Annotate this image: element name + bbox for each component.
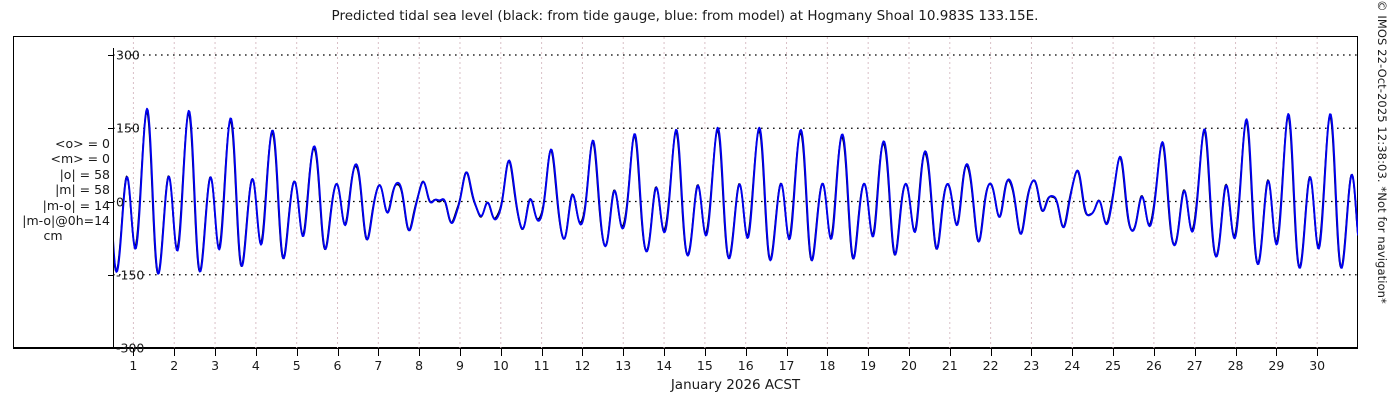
y-axis-tick xyxy=(108,55,113,56)
x-axis-tick-label: 15 xyxy=(697,358,713,373)
stat-abs-model: |m| = 58 xyxy=(14,182,110,197)
y-axis-tick-label: 300 xyxy=(116,48,140,63)
stat-abs-difference: |m-o| = 14 xyxy=(14,198,110,213)
x-axis-tick xyxy=(623,349,624,356)
x-axis-tick-label: 8 xyxy=(415,358,423,373)
x-axis-tick xyxy=(1113,349,1114,356)
x-axis-tick-label: 7 xyxy=(374,358,382,373)
x-axis-tick xyxy=(950,349,951,356)
x-axis-tick xyxy=(1195,349,1196,356)
y-axis-tick xyxy=(108,275,113,276)
y-axis-tick xyxy=(108,128,113,129)
x-axis-tick-label: 12 xyxy=(574,358,590,373)
stat-abs-observed: |o| = 58 xyxy=(14,167,110,182)
x-axis-tick-label: 23 xyxy=(1023,358,1039,373)
x-axis-tick xyxy=(991,349,992,356)
tide-series-model xyxy=(113,109,1358,274)
x-axis-tick-label: 1 xyxy=(129,358,137,373)
x-axis-tick xyxy=(378,349,379,356)
stat-mean-model: <m> = 0 xyxy=(14,151,110,166)
x-axis-tick xyxy=(746,349,747,356)
x-axis-tick xyxy=(1154,349,1155,356)
x-axis-tick-label: 16 xyxy=(738,358,754,373)
x-axis-tick-label: 13 xyxy=(615,358,631,373)
tide-series-observed xyxy=(113,112,1358,273)
x-axis-tick-label: 6 xyxy=(334,358,342,373)
x-axis-tick-label: 11 xyxy=(534,358,550,373)
x-axis-tick-label: 20 xyxy=(901,358,917,373)
plot-area xyxy=(113,36,1358,348)
y-axis-tick-label: 150 xyxy=(116,121,140,136)
x-axis-tick xyxy=(787,349,788,356)
x-axis-tick xyxy=(582,349,583,356)
x-axis-tick xyxy=(1276,349,1277,356)
x-axis-tick xyxy=(1072,349,1073,356)
x-axis-tick xyxy=(256,349,257,356)
x-axis-tick xyxy=(297,349,298,356)
x-axis-tick-label: 21 xyxy=(942,358,958,373)
x-axis-tick xyxy=(868,349,869,356)
y-axis-tick-label: -150 xyxy=(116,267,144,282)
tide-series-layer xyxy=(113,36,1358,348)
x-axis-tick xyxy=(460,349,461,356)
x-axis-tick-label: 10 xyxy=(493,358,509,373)
x-axis-tick-label: 28 xyxy=(1228,358,1244,373)
x-axis-tick-label: 19 xyxy=(860,358,876,373)
y-axis-tick xyxy=(108,348,113,349)
x-axis-tick-label: 5 xyxy=(293,358,301,373)
y-axis-tick-label: -300 xyxy=(116,341,144,356)
x-axis-tick xyxy=(419,349,420,356)
x-axis-tick xyxy=(827,349,828,356)
x-axis-tick xyxy=(501,349,502,356)
x-axis-tick-label: 24 xyxy=(1064,358,1080,373)
statistics-block: <o> = 0 <m> = 0 |o| = 58 |m| = 58 |m-o| … xyxy=(14,136,110,244)
x-axis-tick xyxy=(705,349,706,356)
y-axis-spine xyxy=(113,48,114,348)
stat-units: cm xyxy=(14,228,110,243)
x-axis-tick xyxy=(215,349,216,356)
x-axis-tick-label: 18 xyxy=(819,358,835,373)
x-axis-tick xyxy=(1031,349,1032,356)
x-axis-tick xyxy=(338,349,339,356)
x-axis-tick xyxy=(909,349,910,356)
x-axis-tick-label: 14 xyxy=(656,358,672,373)
x-axis-label: January 2026 ACST xyxy=(113,377,1358,393)
x-axis-tick-label: 26 xyxy=(1146,358,1162,373)
x-axis-tick-label: 3 xyxy=(211,358,219,373)
x-axis-tick-label: 25 xyxy=(1105,358,1121,373)
x-axis-tick xyxy=(664,349,665,356)
x-axis-tick-label: 2 xyxy=(170,358,178,373)
chart-title: Predicted tidal sea level (black: from t… xyxy=(0,8,1370,24)
x-axis-tick-label: 29 xyxy=(1268,358,1284,373)
tide-chart-figure: Predicted tidal sea level (black: from t… xyxy=(0,0,1400,400)
stat-abs-difference-0h: |m-o|@0h=14 xyxy=(14,213,110,228)
x-axis-tick xyxy=(1317,349,1318,356)
x-axis-tick xyxy=(133,349,134,356)
copyright-notice: © IMOS 22-Oct-2025 12:38:03. *Not for na… xyxy=(1367,0,1389,400)
x-axis-tick xyxy=(174,349,175,356)
x-axis-tick-label: 22 xyxy=(983,358,999,373)
x-axis-tick-label: 27 xyxy=(1187,358,1203,373)
stat-mean-observed: <o> = 0 xyxy=(14,136,110,151)
x-axis-tick xyxy=(1236,349,1237,356)
x-axis-tick-label: 9 xyxy=(456,358,464,373)
x-axis-tick-label: 4 xyxy=(252,358,260,373)
x-axis-tick-label: 30 xyxy=(1309,358,1325,373)
y-axis-tick-label: 0 xyxy=(116,194,124,209)
x-axis-tick xyxy=(542,349,543,356)
x-axis-tick-label: 17 xyxy=(779,358,795,373)
